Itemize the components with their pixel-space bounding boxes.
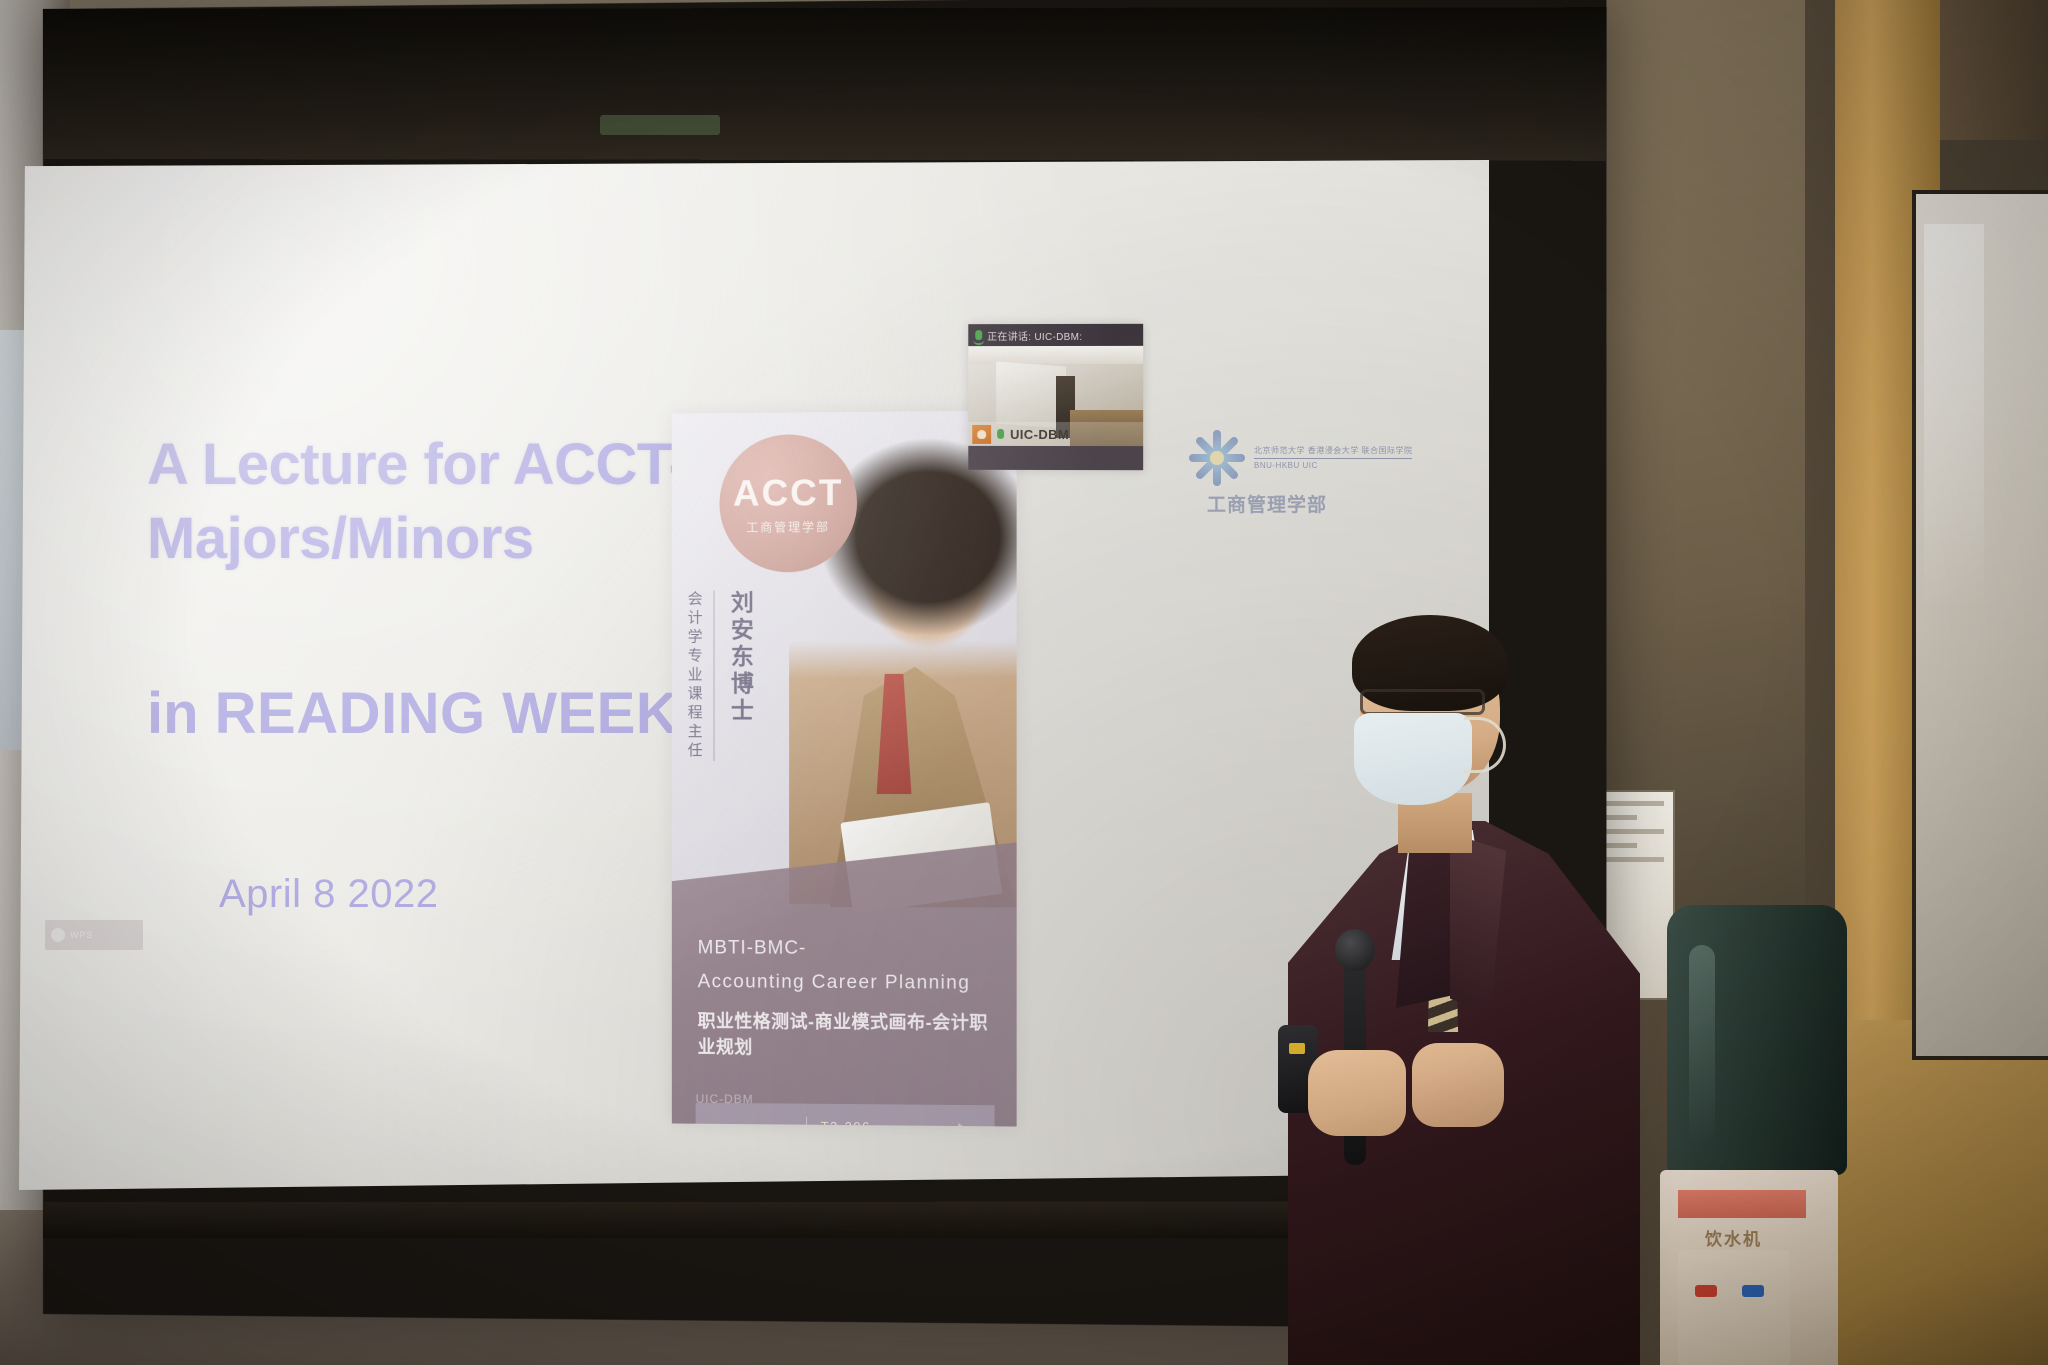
uic-logo-cn-name: 北京师范大学 香港浸会大学 联合国际学院 — [1254, 446, 1412, 456]
uic-logo-text: 北京师范大学 香港浸会大学 联合国际学院 BNU-HKBU UIC — [1254, 446, 1412, 470]
slide-subtitle-strong: READING WEEK — [215, 681, 679, 746]
projection-screen-top-border — [43, 7, 1606, 161]
glasses-icon — [1360, 689, 1485, 715]
poster-badge-acct-text: ACCT — [733, 472, 843, 515]
poster-footer-text: UIC-DBM — [696, 1092, 754, 1106]
watermark-logo-icon — [51, 928, 65, 942]
face-mask — [1354, 713, 1472, 805]
video-thumbnail-header: 正在讲话: UIC-DBM: — [968, 324, 1143, 346]
poster-banner-en-line1: MBTI-BMC- — [698, 937, 991, 960]
event-poster: ACCT 工商管理学部 刘安东博士 会计学专业课程主任 MBTI-BMC- Ac… — [672, 410, 1017, 1126]
cold-water-tap-icon[interactable] — [1742, 1285, 1764, 1297]
poster-badge-cn-text: 工商管理学部 — [746, 518, 830, 535]
poster-event-room: T2-306 — [821, 1118, 907, 1126]
slide-content: A Lecture for ACCT- Majors/Minors in REA… — [19, 160, 1489, 1190]
water-dispenser-brand: 饮水机 — [1705, 1225, 1762, 1250]
live-video-thumbnail[interactable]: 正在讲话: UIC-DBM: UIC-DBM — [968, 324, 1143, 470]
slide-subtitle-prefix: in — [147, 681, 215, 746]
poster-speaker-name: 刘安东博士 — [723, 590, 757, 725]
lecture-hall-scene: 饮水机 A Lecture for ACCT- Majors/Minors in… — [0, 0, 2048, 1365]
uic-logo-en-name: BNU-HKBU UIC — [1254, 458, 1412, 470]
screen-roller-tab — [600, 115, 720, 135]
video-thumbnail-feed: UIC-DBM — [968, 346, 1143, 446]
uic-department-label: 工商管理学部 — [1207, 490, 1327, 517]
wood-base-panel — [1835, 1020, 2048, 1365]
poster-speaker-names: 刘安东博士 会计学专业课程主任 — [684, 590, 758, 761]
water-dispenser-warning-label — [1678, 1190, 1806, 1218]
video-feed-ceiling — [968, 346, 1143, 364]
hot-water-tap-icon[interactable] — [1695, 1285, 1717, 1297]
microphone-icon — [975, 330, 982, 340]
slide-date: April 8 2022 — [219, 872, 438, 917]
watermark-text: WPS — [70, 930, 94, 940]
microphone-icon — [997, 429, 1004, 439]
poster-event-strip: 04/08 T2-306 10:00-12:00 — [696, 1103, 995, 1127]
poster-event-meta: T2-306 10:00-12:00 — [821, 1118, 907, 1126]
poster-banner: MBTI-BMC- Accounting Career Planning 职业性… — [672, 842, 1017, 1127]
slide-watermark: WPS — [45, 920, 143, 950]
video-participant-name: UIC-DBM — [1010, 426, 1069, 441]
poster-acct-badge: ACCT 工商管理学部 — [719, 434, 857, 573]
right-whiteboard — [1912, 190, 2048, 1060]
presenter — [1300, 625, 1630, 1365]
wood-column-upper — [1940, 0, 2048, 140]
water-jug — [1667, 905, 1847, 1175]
presenter-left-hand — [1308, 1050, 1406, 1136]
person-avatar-icon — [972, 424, 991, 443]
poster-banner-en-line2: Accounting Career Planning — [698, 971, 991, 995]
poster-speaker-role: 会计学专业课程主任 — [684, 591, 715, 761]
video-thumbnail-footer: UIC-DBM — [968, 422, 1143, 446]
water-dispenser-basin — [1678, 1250, 1790, 1365]
video-speaker-label: 正在讲话: UIC-DBM: — [987, 327, 1082, 342]
uic-snowflake-logo-icon — [1187, 428, 1247, 488]
strip-divider — [806, 1117, 807, 1127]
presenter-right-hand — [1412, 1043, 1504, 1127]
poster-event-date: 04/08 — [710, 1119, 792, 1126]
uic-logo: 北京师范大学 香港浸会大学 联合国际学院 BNU-HKBU UIC — [1187, 428, 1412, 488]
projected-slide: A Lecture for ACCT- Majors/Minors in REA… — [19, 160, 1489, 1190]
poster-banner-cn: 职业性格测试-商业模式画布-会计职业规划 — [698, 1007, 991, 1061]
play-triangle-icon — [958, 1123, 980, 1127]
